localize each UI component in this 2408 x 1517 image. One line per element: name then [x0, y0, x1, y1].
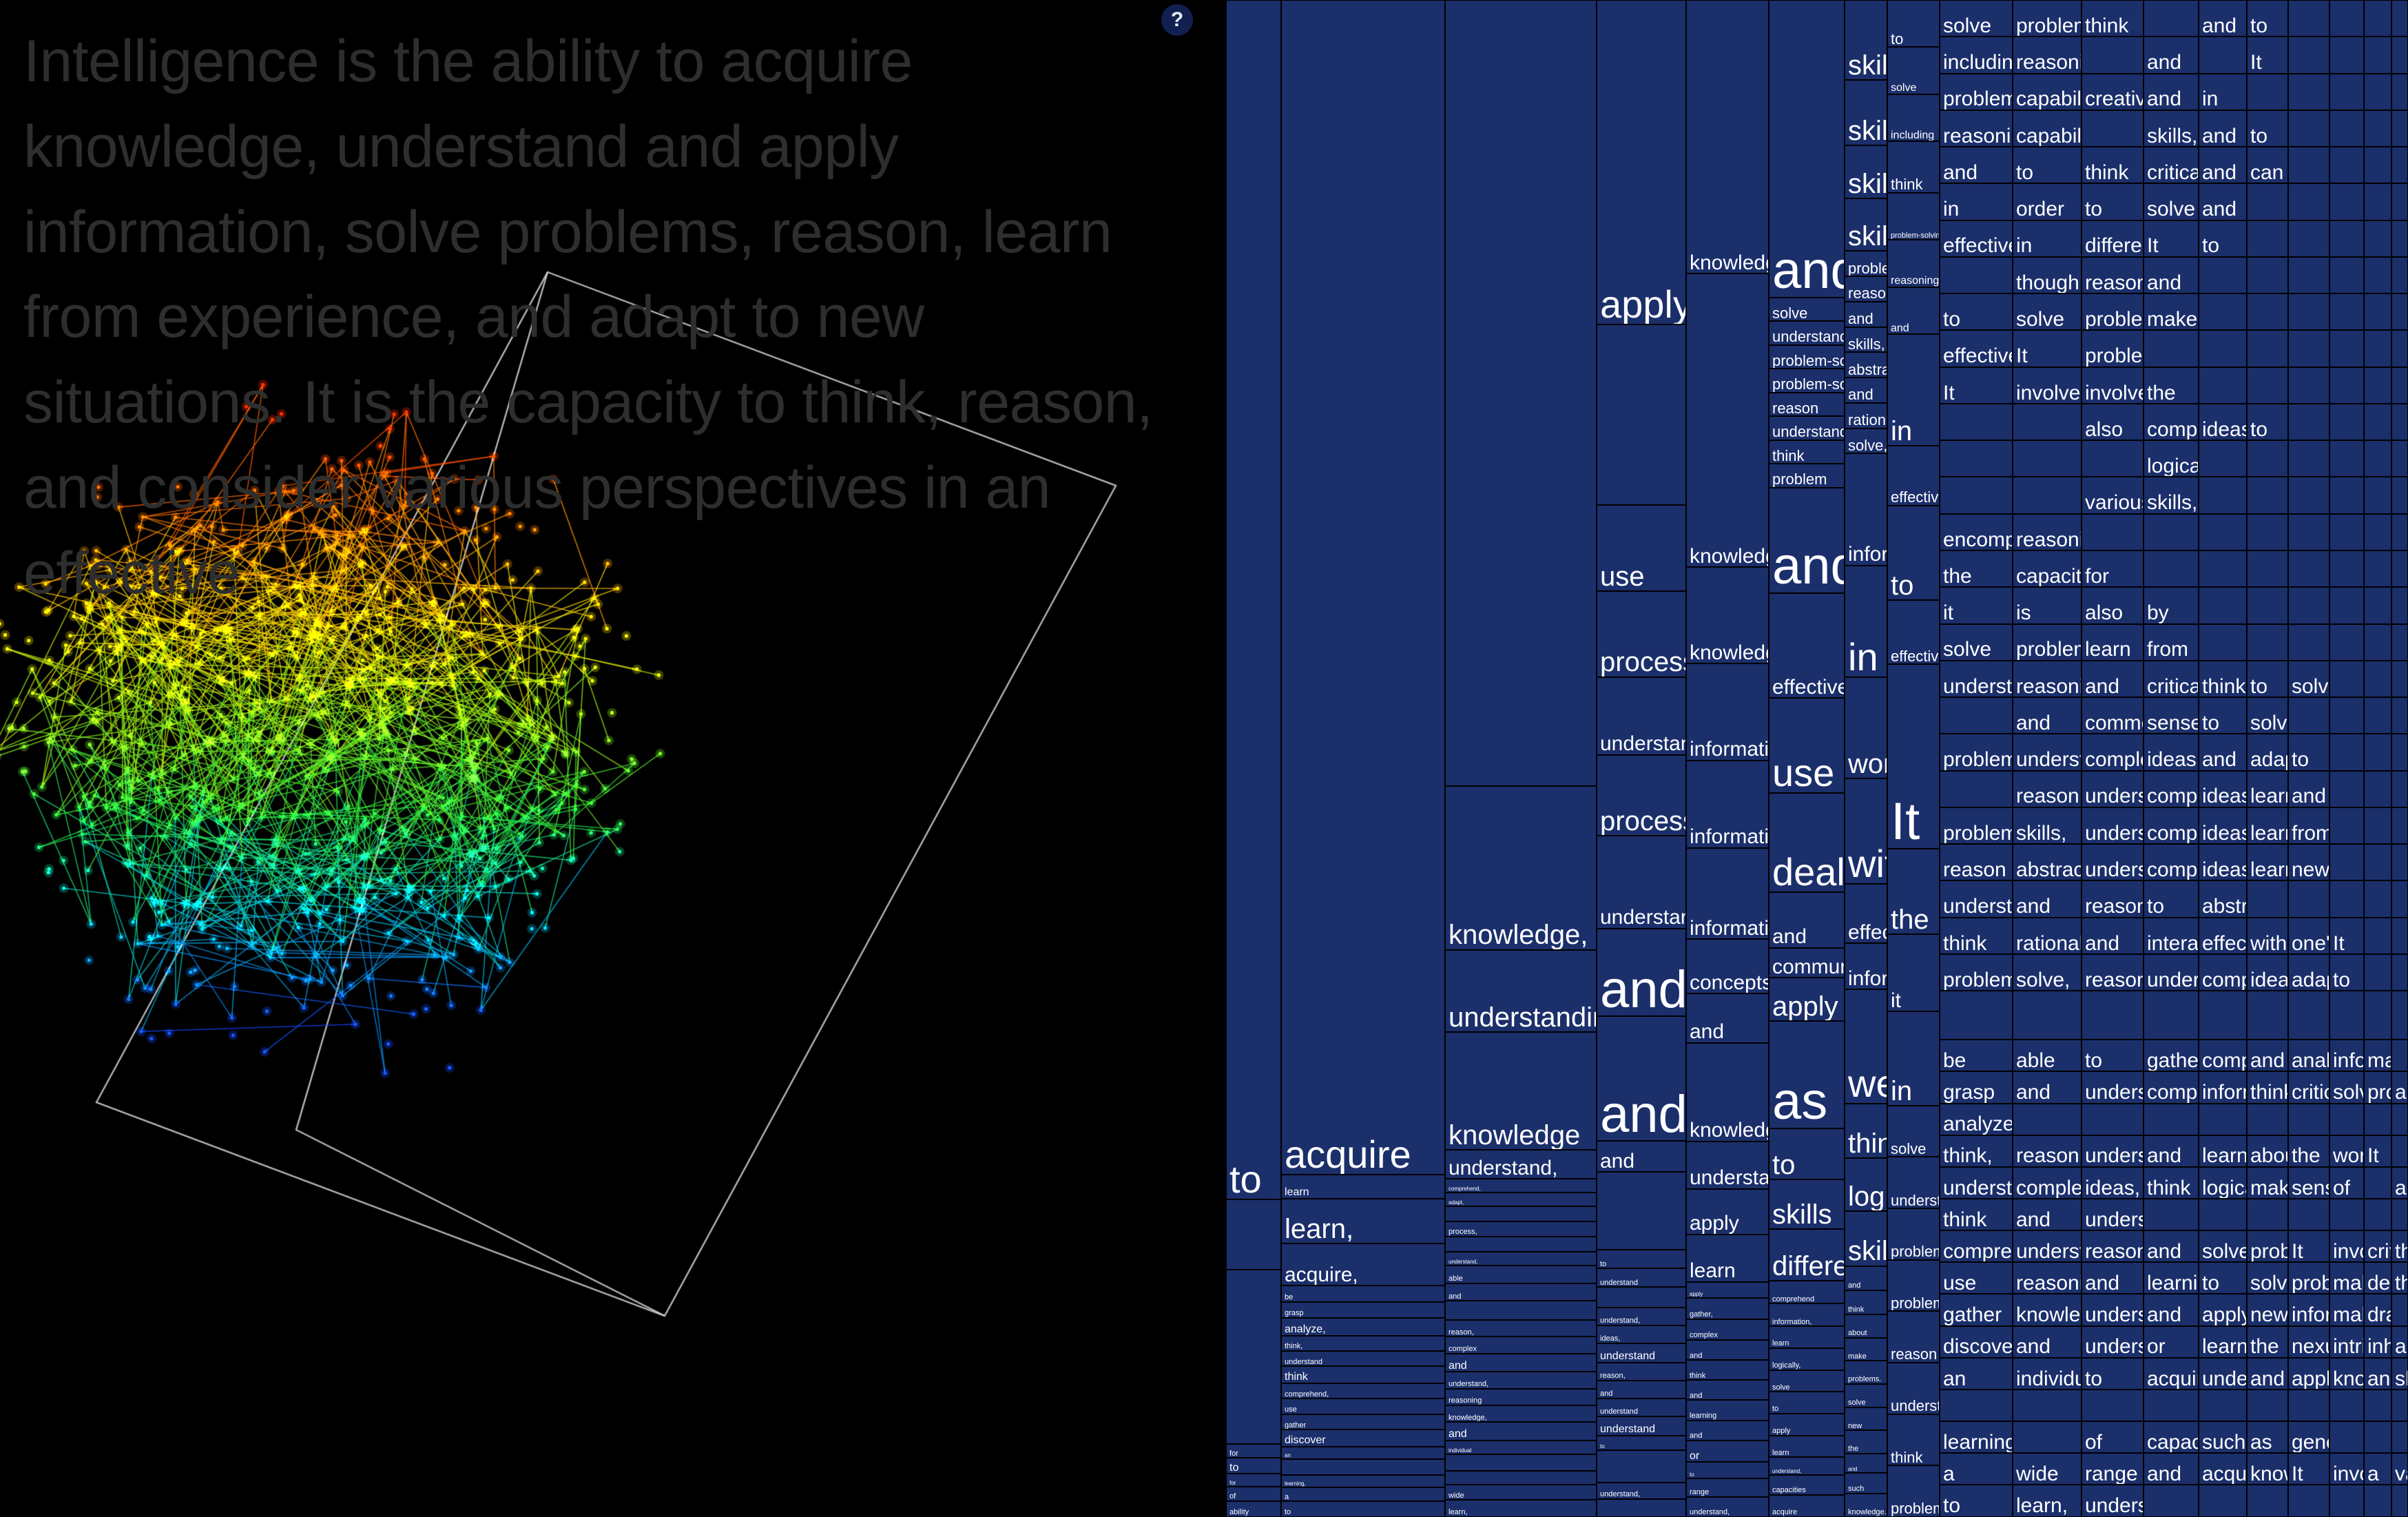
- treemap-cell[interactable]: problems,: [2288, 1262, 2329, 1294]
- treemap-cell[interactable]: to: [2082, 1040, 2144, 1071]
- treemap-cell-empty[interactable]: [2144, 991, 2199, 1040]
- treemap-cell-empty[interactable]: [2288, 587, 2329, 623]
- treemap-cell[interactable]: individual: [1445, 1441, 1597, 1454]
- treemap-cell-empty[interactable]: [2364, 1104, 2391, 1135]
- treemap-cell[interactable]: problem: [1887, 1465, 1940, 1517]
- treemap-cell-empty[interactable]: [2391, 110, 2408, 147]
- treemap-cell-empty[interactable]: [2288, 1390, 2329, 1421]
- treemap-cell[interactable]: problems,: [2364, 1071, 2391, 1103]
- treemap-cell-empty[interactable]: [2329, 661, 2364, 697]
- treemap-cell-empty[interactable]: [2391, 330, 2408, 367]
- treemap-cell[interactable]: reason,: [1597, 1363, 1686, 1381]
- treemap-cell[interactable]: to: [1940, 1485, 2013, 1516]
- treemap-cell[interactable]: and: [1597, 1016, 1686, 1141]
- treemap-cell[interactable]: make: [2364, 1040, 2391, 1071]
- treemap-cell[interactable]: adapt,: [1445, 1193, 1597, 1206]
- treemap-cell-empty[interactable]: [2329, 844, 2364, 880]
- treemap-cell[interactable]: and: [1940, 147, 2013, 183]
- treemap-cell-empty[interactable]: [2364, 404, 2391, 440]
- treemap-cell-empty[interactable]: [2364, 514, 2391, 550]
- treemap-cell[interactable]: think: [2247, 1071, 2288, 1103]
- treemap-cell-empty[interactable]: [2288, 183, 2329, 220]
- treemap-cell[interactable]: information,: [2199, 1071, 2247, 1103]
- treemap-cell-empty[interactable]: [1281, 1459, 1445, 1474]
- treemap-cell[interactable]: understand,: [2082, 1485, 2144, 1516]
- treemap-cell-empty[interactable]: [2364, 440, 2391, 477]
- treemap-cell[interactable]: acquire: [2199, 1453, 2247, 1485]
- treemap-cell[interactable]: and: [2013, 1199, 2082, 1230]
- treemap-cell[interactable]: understand,: [1445, 1252, 1597, 1266]
- treemap-cell[interactable]: It: [2288, 1453, 2329, 1485]
- treemap-cell[interactable]: solve: [2199, 1230, 2247, 1262]
- treemap-cell-empty[interactable]: [2364, 661, 2391, 697]
- treemap-cell[interactable]: learn,: [2013, 1485, 2082, 1516]
- treemap-cell[interactable]: in: [2013, 220, 2082, 257]
- treemap-cell-empty[interactable]: [2247, 330, 2288, 367]
- treemap-cell-empty[interactable]: [2391, 697, 2408, 734]
- treemap-cell[interactable]: knowledge: [1686, 0, 1769, 274]
- treemap-cell-empty[interactable]: [2391, 514, 2408, 550]
- treemap-cell[interactable]: critical: [2364, 1230, 2391, 1262]
- treemap-cell[interactable]: think: [1940, 918, 2013, 954]
- treemap-cell-empty[interactable]: [2247, 293, 2288, 330]
- treemap-cell-empty[interactable]: [2013, 1421, 2082, 1453]
- treemap-cell[interactable]: solve: [1769, 1370, 1845, 1392]
- treemap-cell[interactable]: and: [2013, 880, 2082, 917]
- treemap-cell[interactable]: of: [2329, 1167, 2364, 1199]
- treemap-cell-empty[interactable]: [1940, 697, 2013, 734]
- treemap-cell[interactable]: draw: [2364, 1294, 2391, 1325]
- treemap-cell[interactable]: apply: [2288, 1358, 2329, 1390]
- treemap-cell[interactable]: skills.: [1845, 145, 1887, 198]
- treemap-cell[interactable]: understand: [1597, 1399, 1686, 1416]
- treemap-cell[interactable]: and: [1686, 1340, 1769, 1360]
- treemap-cell-empty[interactable]: [2329, 0, 2364, 37]
- treemap-cell[interactable]: wide: [1445, 1485, 1597, 1500]
- treemap-cell[interactable]: and: [1597, 929, 1686, 1016]
- treemap-cell-empty[interactable]: [2364, 293, 2391, 330]
- treemap-cell[interactable]: from: [2288, 807, 2329, 844]
- treemap-cell[interactable]: in: [1887, 334, 1940, 446]
- treemap-cell-empty[interactable]: [2364, 367, 2391, 404]
- treemap-cell[interactable]: and: [2013, 697, 2082, 734]
- treemap-cell[interactable]: and: [1445, 1283, 1597, 1301]
- treemap-cell[interactable]: and: [1769, 0, 1845, 298]
- treemap-cell[interactable]: and: [1845, 378, 1887, 403]
- treemap-cell-empty[interactable]: [1597, 1450, 1686, 1483]
- treemap-cell-empty[interactable]: [1597, 1499, 1686, 1517]
- treemap-cell[interactable]: learn,: [1445, 1500, 1597, 1516]
- treemap-cell[interactable]: think: [1940, 1199, 2013, 1230]
- treemap-cell[interactable]: the: [2247, 1326, 2288, 1358]
- treemap-cell-empty[interactable]: [1940, 771, 2013, 807]
- treemap-cell[interactable]: understand: [1597, 677, 1686, 755]
- treemap-cell[interactable]: It: [2364, 1135, 2391, 1167]
- treemap-cell[interactable]: It: [2329, 918, 2364, 954]
- treemap-cell[interactable]: to: [2247, 110, 2288, 147]
- treemap-cell[interactable]: critical: [2144, 661, 2199, 697]
- treemap-cell[interactable]: solve: [2329, 1071, 2364, 1103]
- treemap-cell[interactable]: or: [1686, 1441, 1769, 1463]
- treemap-cell[interactable]: general: [2288, 1421, 2329, 1453]
- treemap-cell[interactable]: ideas,: [2144, 734, 2199, 770]
- treemap-cell[interactable]: understand: [1597, 1343, 1686, 1363]
- treemap-cell[interactable]: make: [1845, 1338, 1887, 1361]
- treemap-cell[interactable]: complex: [2144, 404, 2199, 440]
- treemap-cell-empty[interactable]: [2082, 440, 2144, 477]
- treemap-cell[interactable]: use: [1281, 1399, 1445, 1414]
- treemap-cell[interactable]: well: [1845, 989, 1887, 1103]
- treemap-cell[interactable]: complex: [2144, 771, 2199, 807]
- treemap-cell[interactable]: problems,: [2013, 624, 2082, 661]
- treemap-cell[interactable]: process,: [1445, 1221, 1597, 1237]
- treemap-cell[interactable]: reason: [2082, 880, 2144, 917]
- treemap-cell-empty[interactable]: [2391, 807, 2408, 844]
- treemap-cell[interactable]: understanding: [1769, 416, 1845, 440]
- treemap-cell[interactable]: reasoning,: [2082, 257, 2144, 293]
- treemap-cell[interactable]: skills,: [2013, 807, 2082, 844]
- treemap-cell[interactable]: to: [1281, 1501, 1445, 1516]
- treemap-cell[interactable]: ideas,: [2199, 807, 2247, 844]
- treemap-cell[interactable]: problem-solving: [1940, 74, 2013, 110]
- treemap-cell[interactable]: and: [2144, 257, 2199, 293]
- treemap-cell-empty[interactable]: [2329, 991, 2364, 1040]
- treemap-cell[interactable]: sense: [2144, 697, 2199, 734]
- treemap-cell[interactable]: learn,: [1281, 1199, 1445, 1243]
- treemap-cell[interactable]: effectively,: [1845, 884, 1887, 943]
- treemap-cell-empty[interactable]: [1226, 1199, 1281, 1270]
- treemap-cell-empty[interactable]: [2288, 1199, 2329, 1230]
- treemap-cell-empty[interactable]: [2199, 1199, 2247, 1230]
- treemap-cell[interactable]: understand,: [2082, 1135, 2144, 1167]
- treemap-cell[interactable]: solve: [2247, 1262, 2288, 1294]
- treemap-cell-empty[interactable]: [2391, 734, 2408, 770]
- treemap-cell-empty[interactable]: [2288, 110, 2329, 147]
- treemap-cell[interactable]: various: [2082, 477, 2144, 513]
- treemap-cell-empty[interactable]: [2082, 991, 2144, 1040]
- treemap-cell[interactable]: information,: [2288, 1294, 2329, 1325]
- treemap-cell-empty[interactable]: [2288, 514, 2329, 550]
- treemap-cell[interactable]: inherent: [2364, 1326, 2391, 1358]
- treemap-cell[interactable]: different: [2082, 220, 2144, 257]
- treemap-cell-empty[interactable]: [2144, 1390, 2199, 1421]
- treemap-cell-empty[interactable]: [2329, 1104, 2364, 1135]
- treemap-cell-empty[interactable]: [2288, 0, 2329, 37]
- treemap-cell[interactable]: problems,: [1845, 251, 1887, 276]
- treemap-cell[interactable]: think: [1845, 1104, 1887, 1159]
- treemap-cell[interactable]: understand: [2082, 1199, 2144, 1230]
- treemap-cell[interactable]: involves: [2082, 367, 2144, 404]
- treemap-cell-empty[interactable]: [2288, 147, 2329, 183]
- 3d-embedding-canvas[interactable]: [0, 0, 1214, 1517]
- treemap-cell-empty[interactable]: [2329, 587, 2364, 623]
- treemap-cell[interactable]: knowledge.: [2247, 1453, 2288, 1485]
- treemap-cell[interactable]: solve: [1887, 1106, 1940, 1157]
- treemap-cell[interactable]: think,: [1281, 1336, 1445, 1351]
- treemap-cell[interactable]: can: [2247, 147, 2288, 183]
- treemap-cell[interactable]: use: [1940, 1262, 2013, 1294]
- treemap-cell[interactable]: solve: [1940, 0, 2013, 37]
- treemap-cell-empty[interactable]: [2391, 918, 2408, 954]
- treemap-cell[interactable]: a: [2364, 1453, 2391, 1485]
- treemap-cell-empty[interactable]: [2144, 330, 2199, 367]
- treemap-cell-empty[interactable]: [2199, 1485, 2247, 1516]
- treemap-cell-empty[interactable]: [2013, 477, 2082, 513]
- treemap-cell[interactable]: solve,: [2013, 954, 2082, 991]
- treemap-cell[interactable]: to: [2288, 734, 2329, 770]
- treemap-cell-empty[interactable]: [2391, 771, 2408, 807]
- treemap-cell[interactable]: capabilities,: [2013, 110, 2082, 147]
- treemap-cell-empty[interactable]: [2391, 1199, 2408, 1230]
- treemap-cell[interactable]: learn: [2247, 771, 2288, 807]
- treemap-cell[interactable]: variety: [2391, 1453, 2408, 1485]
- treemap-cell[interactable]: think: [2144, 1167, 2199, 1199]
- help-icon[interactable]: ?: [1161, 4, 1193, 36]
- treemap-cell-empty[interactable]: [2329, 293, 2364, 330]
- treemap-cell[interactable]: reasoning: [2013, 1262, 2082, 1294]
- treemap-cell-empty[interactable]: [2391, 1104, 2408, 1135]
- treemap-cell[interactable]: individual: [2013, 1358, 2082, 1390]
- treemap-cell[interactable]: effectively.: [1940, 330, 2013, 367]
- treemap-cell[interactable]: and: [2082, 661, 2144, 697]
- treemap-cell[interactable]: understand,: [1445, 1150, 1597, 1179]
- treemap-cell-empty[interactable]: [2329, 367, 2364, 404]
- treemap-cell[interactable]: understand,: [1769, 1457, 1845, 1475]
- treemap-cell[interactable]: skills;: [1845, 198, 1887, 251]
- treemap-cell[interactable]: to: [1597, 1436, 1686, 1450]
- treemap-cell-empty[interactable]: [2199, 477, 2247, 513]
- treemap-cell[interactable]: and: [2144, 1230, 2199, 1262]
- treemap-cell[interactable]: and: [2082, 1262, 2144, 1294]
- treemap-cell[interactable]: decisions,: [2364, 1262, 2391, 1294]
- treemap-cell[interactable]: reason,: [2013, 771, 2082, 807]
- treemap-cell[interactable]: problem-solving: [1887, 193, 1940, 240]
- treemap-cell[interactable]: to: [1887, 506, 1940, 600]
- treemap-cell-empty[interactable]: [2144, 1485, 2199, 1516]
- treemap-cell[interactable]: think: [1887, 1414, 1940, 1466]
- treemap-cell-empty[interactable]: [2199, 440, 2247, 477]
- treemap-cell[interactable]: analyze,: [1281, 1318, 1445, 1336]
- treemap-cell-empty[interactable]: [2288, 220, 2329, 257]
- treemap-cell[interactable]: discover: [1281, 1430, 1445, 1447]
- treemap-cell[interactable]: be: [1281, 1286, 1445, 1301]
- treemap-cell[interactable]: understand: [2082, 1071, 2144, 1103]
- treemap-cell-empty[interactable]: [2364, 0, 2391, 37]
- treemap-cell-empty[interactable]: [2013, 991, 2082, 1040]
- treemap-cell[interactable]: It: [2247, 37, 2288, 73]
- treemap-cell[interactable]: comprehend,: [1281, 1383, 1445, 1399]
- treemap-cell[interactable]: about: [1845, 1314, 1887, 1338]
- treemap-cell-empty[interactable]: [2364, 147, 2391, 183]
- treemap-cell[interactable]: gather,: [1686, 1298, 1769, 1319]
- treemap-cell-empty[interactable]: [2329, 807, 2364, 844]
- treemap-cell[interactable]: understanding,: [1940, 661, 2013, 697]
- treemap-cell-empty[interactable]: [2247, 1390, 2288, 1421]
- treemap-cell-empty[interactable]: [1940, 440, 2013, 477]
- treemap-cell[interactable]: is: [2013, 587, 2082, 623]
- treemap-cell[interactable]: be: [1940, 1040, 2013, 1071]
- treemap-cell-empty[interactable]: [2364, 74, 2391, 110]
- treemap-cell-empty[interactable]: [2247, 1485, 2288, 1516]
- treemap-cell-empty[interactable]: [2391, 954, 2408, 991]
- treemap-cell-empty[interactable]: [2364, 550, 2391, 587]
- treemap-cell[interactable]: knowledge: [1445, 1032, 1597, 1150]
- treemap-cell[interactable]: skills: [2391, 1358, 2408, 1390]
- treemap-cell[interactable]: to: [1597, 1250, 1686, 1268]
- treemap-cell[interactable]: knowledge,: [1686, 1043, 1769, 1142]
- treemap-cell-empty[interactable]: [2013, 1104, 2082, 1135]
- treemap-cell[interactable]: and: [1686, 993, 1769, 1042]
- treemap-cell[interactable]: thinking,: [2391, 1230, 2408, 1262]
- treemap-cell[interactable]: solve: [2144, 183, 2199, 220]
- treemap-cell[interactable]: think: [1686, 1360, 1769, 1380]
- treemap-cell-empty[interactable]: [2364, 844, 2391, 880]
- treemap-cell[interactable]: abstractly,: [1845, 352, 1887, 378]
- treemap-cell[interactable]: acquire,: [1281, 1243, 1445, 1286]
- treemap-cell-empty[interactable]: [2364, 183, 2391, 220]
- treemap-cell[interactable]: think: [1769, 440, 1845, 464]
- treemap-cell[interactable]: and: [2144, 1135, 2199, 1167]
- treemap-cell[interactable]: understand: [1597, 1416, 1686, 1436]
- treemap-cell[interactable]: capacities: [1769, 1475, 1845, 1495]
- treemap-cell-empty[interactable]: [2329, 1485, 2364, 1516]
- treemap-cell[interactable]: logically,: [2199, 1167, 2247, 1199]
- treemap-cell[interactable]: and: [1845, 1454, 1887, 1473]
- treemap-cell[interactable]: wide: [2013, 1453, 2082, 1485]
- treemap-cell-empty[interactable]: [1940, 991, 2013, 1040]
- treemap-cell-empty[interactable]: [2199, 514, 2247, 550]
- treemap-cell[interactable]: apply: [1686, 1189, 1769, 1235]
- treemap-cell-empty[interactable]: [1597, 1172, 1686, 1250]
- treemap-cell-empty[interactable]: [2247, 440, 2288, 477]
- treemap-cell[interactable]: understand: [1597, 1268, 1686, 1287]
- treemap-cell[interactable]: knowledge,: [2013, 1294, 2082, 1325]
- treemap-cell[interactable]: understanding: [2082, 807, 2144, 844]
- treemap-cell[interactable]: to: [1686, 1462, 1769, 1478]
- treemap-cell[interactable]: learning,: [1940, 1421, 2013, 1453]
- treemap-cell-empty[interactable]: [2329, 257, 2364, 293]
- treemap-cell-empty[interactable]: [2144, 514, 2199, 550]
- treemap-cell-empty[interactable]: [2364, 1167, 2391, 1199]
- treemap-cell-empty[interactable]: [2247, 477, 2288, 513]
- treemap-cell[interactable]: and: [2144, 1453, 2199, 1485]
- treemap-cell[interactable]: solve: [2247, 697, 2288, 734]
- treemap-cell[interactable]: reason: [1940, 844, 2013, 880]
- treemap-cell[interactable]: the: [2288, 1135, 2329, 1167]
- treemap-cell[interactable]: problem: [1769, 464, 1845, 488]
- treemap-cell[interactable]: and: [2199, 0, 2247, 37]
- treemap-cell[interactable]: problem-solve,: [1940, 734, 2013, 770]
- treemap-cell-empty[interactable]: [2082, 514, 2144, 550]
- treemap-cell[interactable]: effectively: [1769, 593, 1845, 699]
- treemap-cell-empty[interactable]: [2329, 771, 2364, 807]
- treemap-cell[interactable]: and: [1769, 892, 1845, 948]
- treemap-cell-empty[interactable]: [2329, 880, 2364, 917]
- treemap-cell[interactable]: discover: [1940, 1326, 2013, 1358]
- treemap-cell[interactable]: reasoning.: [1845, 276, 1887, 302]
- treemap-cell[interactable]: think: [1845, 1290, 1887, 1314]
- treemap-cell[interactable]: apply: [2199, 1294, 2247, 1325]
- treemap-cell-empty[interactable]: [2288, 1104, 2329, 1135]
- treemap-cell[interactable]: ideas,: [1597, 1325, 1686, 1343]
- treemap-cell[interactable]: learn: [1686, 1235, 1769, 1282]
- treemap-cell-empty[interactable]: [2288, 404, 2329, 440]
- treemap-cell[interactable]: also: [2082, 404, 2144, 440]
- treemap-cell-empty[interactable]: [2391, 0, 2408, 37]
- treemap-cell[interactable]: information,: [1686, 761, 1769, 848]
- treemap-cell-empty[interactable]: [1226, 1270, 1281, 1443]
- treemap-cell[interactable]: problems,: [2013, 0, 2082, 37]
- treemap-cell[interactable]: make: [2329, 1262, 2364, 1294]
- treemap-cell[interactable]: understand: [2013, 734, 2082, 770]
- treemap-cell[interactable]: skills: [1845, 0, 1887, 80]
- treemap-cell-empty[interactable]: [2391, 404, 2408, 440]
- treemap-cell[interactable]: solve: [1769, 298, 1845, 322]
- treemap-cell[interactable]: make: [2144, 293, 2199, 330]
- treemap-cell[interactable]: in: [1845, 566, 1887, 677]
- treemap-cell-empty[interactable]: [2199, 37, 2247, 73]
- treemap-cell[interactable]: range: [1686, 1478, 1769, 1496]
- treemap-cell[interactable]: acquire: [1769, 1495, 1845, 1517]
- treemap-cell[interactable]: knowledge,: [1686, 274, 1769, 567]
- treemap-cell[interactable]: ideas,: [2199, 404, 2247, 440]
- treemap-cell-empty[interactable]: [2364, 1485, 2391, 1516]
- treemap-cell[interactable]: reasoning.: [2013, 37, 2082, 73]
- treemap-cell[interactable]: It: [2013, 330, 2082, 367]
- treemap-cell[interactable]: process: [1597, 755, 1686, 836]
- treemap-cell[interactable]: solve: [1940, 624, 2013, 661]
- treemap-cell[interactable]: intricately: [2329, 1326, 2364, 1358]
- treemap-cell[interactable]: learn: [1769, 1326, 1845, 1348]
- treemap-cell-empty[interactable]: [2247, 257, 2288, 293]
- treemap-cell[interactable]: understand,: [1686, 1497, 1769, 1517]
- treemap-cell[interactable]: thinking: [2199, 661, 2247, 697]
- treemap-cell-empty[interactable]: [2329, 74, 2364, 110]
- treemap-cell[interactable]: complex: [2144, 807, 2199, 844]
- treemap-cell-empty[interactable]: [2329, 1390, 2364, 1421]
- treemap-cell[interactable]: a: [1940, 1453, 2013, 1485]
- treemap-cell[interactable]: gather: [1281, 1414, 1445, 1430]
- treemap-cell-empty[interactable]: [2391, 991, 2408, 1040]
- treemap-cell-empty[interactable]: [1940, 257, 2013, 293]
- treemap-cell[interactable]: to: [2013, 147, 2082, 183]
- treemap-cell[interactable]: critically,: [2288, 1071, 2329, 1103]
- treemap-cell-empty[interactable]: [2329, 110, 2364, 147]
- treemap-cell-empty[interactable]: [2247, 183, 2288, 220]
- treemap-cell[interactable]: learn: [2247, 844, 2288, 880]
- treemap-cell[interactable]: learn: [2199, 1326, 2247, 1358]
- treemap-cell-empty[interactable]: [2082, 37, 2144, 73]
- treemap-cell-empty[interactable]: [2329, 147, 2364, 183]
- treemap-cell[interactable]: learn: [2082, 624, 2144, 661]
- treemap-cell-empty[interactable]: [2391, 220, 2408, 257]
- treemap-cell[interactable]: and: [1887, 287, 1940, 334]
- treemap-cell-empty[interactable]: [2247, 74, 2288, 110]
- treemap-cell[interactable]: reason,: [2082, 954, 2144, 991]
- treemap-cell[interactable]: of: [1226, 1487, 1281, 1501]
- treemap-cell[interactable]: information,: [1686, 848, 1769, 939]
- treemap-cell[interactable]: and: [2391, 1167, 2408, 1199]
- treemap-cell[interactable]: process: [1597, 591, 1686, 677]
- treemap-cell[interactable]: and: [2082, 918, 2144, 954]
- treemap-cell-empty[interactable]: [2247, 991, 2288, 1040]
- treemap-cell[interactable]: effectively: [2199, 918, 2247, 954]
- treemap-cell[interactable]: information,: [1769, 1303, 1845, 1326]
- treemap-cell[interactable]: for: [2082, 550, 2144, 587]
- treemap-cell[interactable]: apply: [1769, 978, 1845, 1021]
- treemap-cell[interactable]: make: [2329, 1294, 2364, 1325]
- treemap-cell-empty[interactable]: [2391, 550, 2408, 587]
